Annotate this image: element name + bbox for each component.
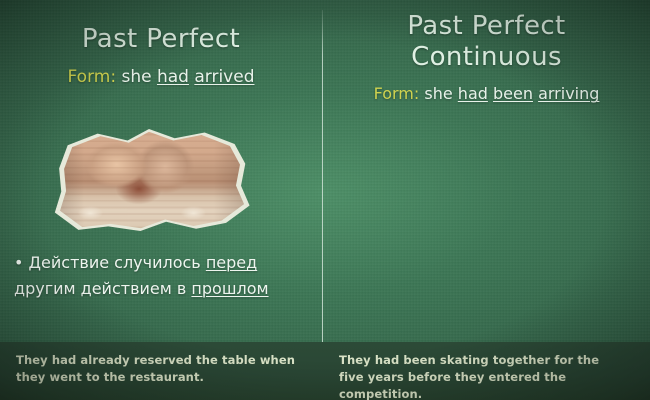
right-form-label: Form: (374, 84, 420, 103)
right-form-participle: arriving (538, 84, 599, 103)
left-bullet-part1: Действие случилось (29, 253, 201, 272)
left-explanation-text: • Действие случилось перед другим действ… (14, 250, 314, 302)
right-caption-line-1: They had been skating together for the (339, 352, 644, 369)
left-form-aux: had (157, 67, 189, 87)
right-panel-title: Past Perfect Continuous (323, 11, 650, 72)
left-form-label: Form: (68, 67, 117, 87)
grammar-comparison-slide: Past Perfect Form: she had arrived • Дей… (0, 0, 650, 400)
right-form-subject: she (424, 84, 452, 103)
right-panel: Past Perfect Continuous Form: she had be… (323, 0, 650, 400)
left-bullet-underlined1: перед (206, 253, 257, 272)
left-panel: Past Perfect Form: she had arrived • Дей… (0, 0, 322, 400)
left-caption-line-1: They had already reserved the table when (16, 352, 316, 369)
left-caption-line-2: they went to the restaurant. (16, 369, 316, 386)
left-panel-title: Past Perfect (0, 24, 322, 55)
left-bullet-marker: • (14, 253, 23, 272)
right-example-caption: They had been skating together for the f… (339, 352, 644, 400)
right-title-line-1: Past Perfect (323, 11, 650, 42)
right-caption-line-2: five years before they entered the compe… (339, 369, 644, 400)
left-form-line: Form: she had arrived (0, 67, 322, 87)
panel-divider (322, 10, 323, 390)
left-form-participle: arrived (194, 67, 254, 87)
right-title-line-2: Continuous (323, 42, 650, 73)
right-form-aux2: been (493, 84, 533, 103)
right-form-aux: had (458, 84, 488, 103)
left-form-subject: she (121, 67, 151, 87)
left-example-caption: They had already reserved the table when… (16, 352, 316, 386)
left-bullet-part2: другим действием в (14, 279, 186, 298)
left-bullet-underlined2: прошлом (191, 279, 268, 298)
couple-dining-photo (42, 122, 256, 238)
right-form-line: Form: she had been arriving (323, 84, 650, 103)
